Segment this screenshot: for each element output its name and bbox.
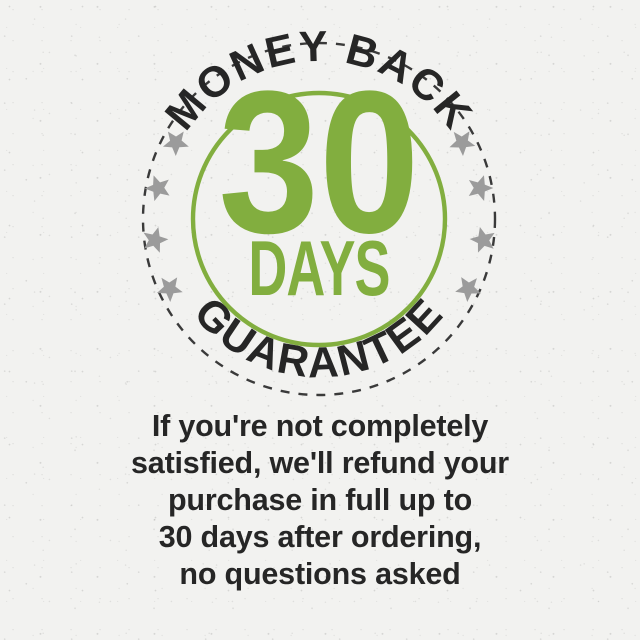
guarantee-promise-text: If you're not completely satisfied, we'l… — [60, 408, 580, 593]
star-icon — [142, 171, 174, 203]
badge-unit-days: DAYS — [248, 225, 389, 312]
promise-line-1: If you're not completely — [60, 408, 580, 445]
promise-line-3: purchase in full up to — [60, 482, 580, 519]
promise-line-5: no questions asked — [60, 556, 580, 593]
promise-line-4: 30 days after ordering, — [60, 519, 580, 556]
star-icon — [450, 270, 485, 304]
guarantee-graphic: MONEY BACK GUARANTEE 30 DAYS If you're n… — [0, 0, 640, 640]
star-cluster-right — [445, 124, 498, 304]
star-icon — [153, 270, 188, 305]
star-cluster-left — [140, 124, 193, 305]
promise-line-2: satisfied, we'll refund your — [60, 445, 580, 482]
star-icon — [464, 171, 496, 202]
